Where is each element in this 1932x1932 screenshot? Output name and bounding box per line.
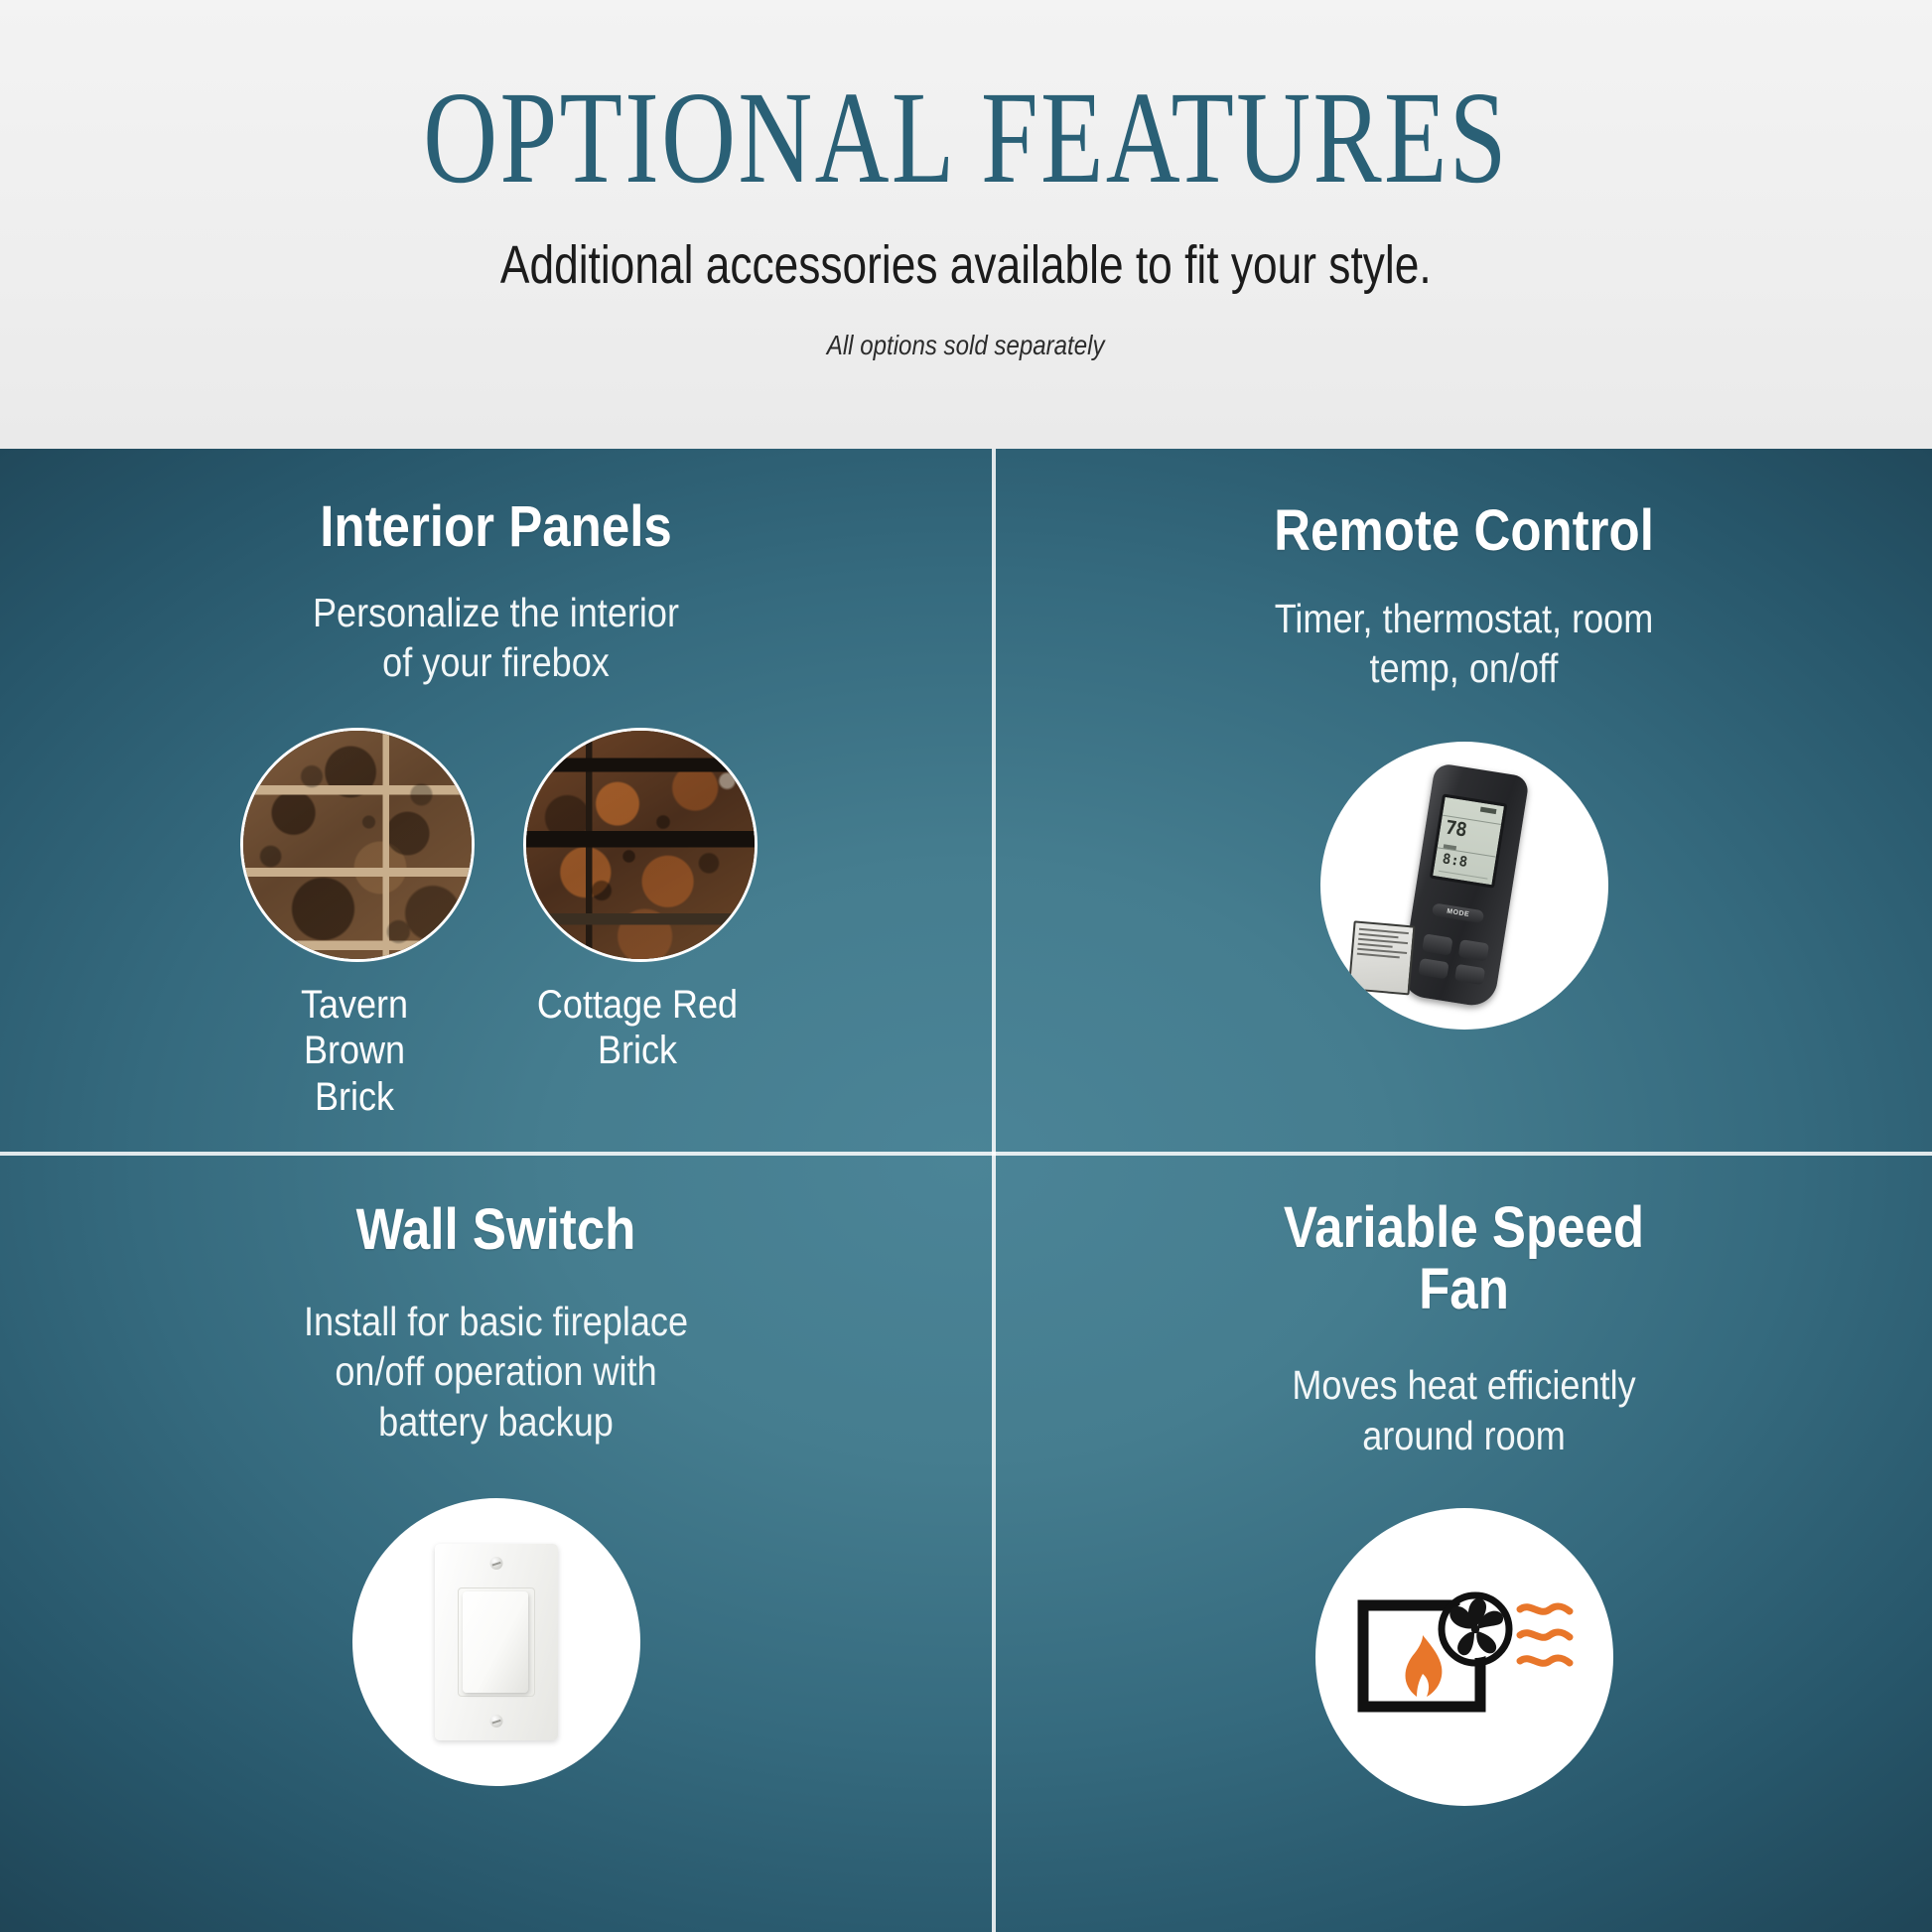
features-grid: Interior Panels Personalize the interior… xyxy=(0,449,1932,1932)
feature-title-line-2: Fan xyxy=(1052,1259,1876,1320)
fan-blades-icon xyxy=(1442,1595,1509,1663)
swatch-label-cottage-red: Cottage Red Brick xyxy=(535,982,741,1074)
remote-flap-label-lines xyxy=(1356,928,1408,959)
page-subtitle: Additional accessories available to fit … xyxy=(500,237,1432,294)
flap-line xyxy=(1357,943,1392,948)
feature-description-wall-switch: Install for basic fireplace on/off opera… xyxy=(60,1297,932,1447)
feature-title-interior-panels: Interior Panels xyxy=(60,496,932,558)
description-line-1: Install for basic fireplace xyxy=(60,1297,932,1346)
feature-card-wall-switch[interactable]: Wall Switch Install for basic fireplace … xyxy=(0,1156,992,1932)
heat-waves-icon xyxy=(1520,1606,1570,1663)
feature-title-variable-speed-fan: Variable Speed Fan xyxy=(1052,1197,1876,1320)
description-line-2: around room xyxy=(1052,1411,1876,1460)
infographic-page: OPTIONAL FEATURES Additional accessories… xyxy=(0,0,1932,1932)
flame-icon xyxy=(1405,1635,1442,1697)
description-line-1: Personalize the interior xyxy=(60,588,932,637)
swatch-label-line-2: Brick xyxy=(252,1074,458,1120)
remote-lcd-screen: 78 8:8 xyxy=(1429,793,1507,888)
lcd-secondary-value: 8:8 xyxy=(1441,852,1467,870)
remote-button-2[interactable] xyxy=(1457,939,1488,961)
faceplate-screw-bottom xyxy=(489,1715,502,1727)
page-title: OPTIONAL FEATURES xyxy=(423,71,1509,204)
feature-card-variable-speed-fan[interactable]: Variable Speed Fan Moves heat efficientl… xyxy=(996,1156,1932,1932)
feature-card-remote-control[interactable]: Remote Control Timer, thermostat, room t… xyxy=(996,449,1932,1152)
page-footnote: All options sold separately xyxy=(827,330,1105,361)
feature-description-variable-speed-fan: Moves heat efficiently around room xyxy=(1052,1360,1876,1460)
feature-description-remote-control: Timer, thermostat, room temp, on/off xyxy=(1052,594,1876,694)
swatch-cottage-red-brick[interactable]: Cottage Red Brick xyxy=(523,728,752,1120)
lcd-temperature-value: 78 xyxy=(1444,818,1467,840)
fan-heat-icon xyxy=(1345,1568,1584,1746)
feature-description-interior-panels: Personalize the interior of your firebox xyxy=(60,588,932,688)
brick-texture-circle-cottage-red xyxy=(523,728,758,962)
remote-control-photo-circle: 78 8:8 MODE xyxy=(1320,742,1608,1030)
wall-switch-photo-circle xyxy=(352,1498,640,1786)
remote-button-1[interactable] xyxy=(1422,933,1452,955)
swatch-label-line-1: Tavern Brown xyxy=(252,982,458,1074)
brick-texture-circle-tavern-brown xyxy=(240,728,475,962)
wall-switch-device[interactable] xyxy=(435,1544,558,1740)
brick-texture-tavern-brown xyxy=(243,731,472,959)
feature-title-wall-switch: Wall Switch xyxy=(60,1199,932,1261)
switch-rocker-paddle[interactable] xyxy=(463,1591,528,1693)
variable-speed-fan-icon-circle xyxy=(1315,1508,1613,1806)
description-line-2: of your firebox xyxy=(60,637,932,687)
swatch-label-line-1: Cottage Red xyxy=(535,982,741,1028)
description-line-1: Moves heat efficiently xyxy=(1052,1360,1876,1410)
swatch-label-tavern-brown: Tavern Brown Brick xyxy=(252,982,458,1120)
description-line-1: Timer, thermostat, room xyxy=(1052,594,1876,643)
lcd-divider-line xyxy=(1438,871,1487,880)
flap-line xyxy=(1356,953,1399,959)
header-band: OPTIONAL FEATURES Additional accessories… xyxy=(0,0,1932,449)
feature-title-line-1: Variable Speed xyxy=(1052,1197,1876,1259)
lcd-indicator-icon xyxy=(1479,807,1496,814)
swatch-tavern-brown-brick[interactable]: Tavern Brown Brick xyxy=(240,728,469,1120)
brick-texture-cottage-red xyxy=(526,731,755,959)
brick-swatch-row: Tavern Brown Brick Cottage Red Brick xyxy=(0,728,992,1120)
remote-battery-cover-flap[interactable] xyxy=(1347,920,1415,995)
remote-control-device: 78 8:8 MODE xyxy=(1399,762,1530,1009)
feature-title-remote-control: Remote Control xyxy=(1052,500,1876,562)
feature-card-interior-panels[interactable]: Interior Panels Personalize the interior… xyxy=(0,449,992,1152)
description-line-2: temp, on/off xyxy=(1052,643,1876,693)
description-line-2: on/off operation with xyxy=(60,1346,932,1396)
description-line-3: battery backup xyxy=(60,1397,932,1447)
remote-mode-button-label: MODE xyxy=(1446,907,1469,918)
faceplate-screw-top xyxy=(489,1557,502,1570)
swatch-label-line-2: Brick xyxy=(535,1028,741,1073)
